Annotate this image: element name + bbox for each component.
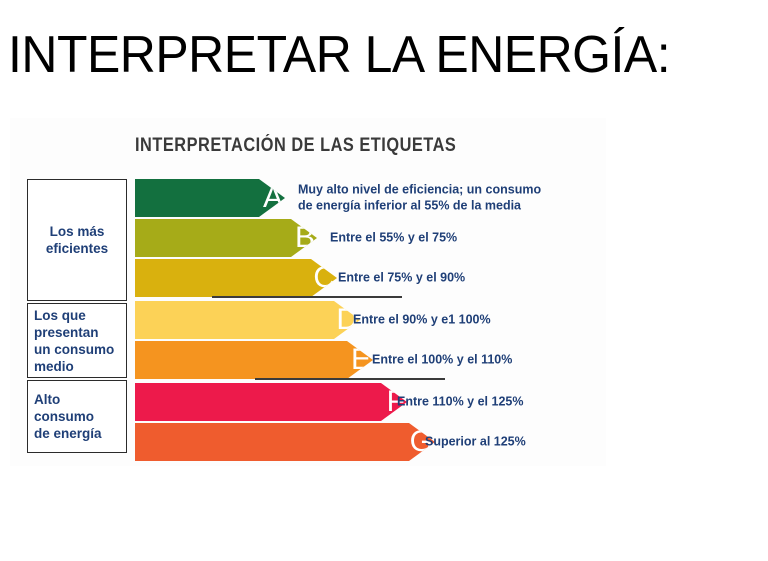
category-line: medio xyxy=(34,358,74,375)
figure-title: INTERPRETACIÓN DE LAS ETIQUETAS xyxy=(135,135,456,157)
rating-bar-a: A xyxy=(135,179,285,217)
category-line: de energía xyxy=(34,425,102,442)
rating-letter: A xyxy=(263,183,285,213)
description-line: Entre el 75% y el 90% xyxy=(338,270,465,286)
category-line: eficientes xyxy=(46,240,108,257)
rating-description-b: Entre el 55% y el 75% xyxy=(330,230,457,246)
category-box-high-consumption: Alto consumo de energía xyxy=(27,380,127,453)
rating-bar-b: B xyxy=(135,219,317,257)
rating-bar-g: G xyxy=(135,423,435,461)
rating-bar-c: C xyxy=(135,259,337,297)
description-line: Entre el 90% y e1 100% xyxy=(353,312,491,328)
category-line: Los más xyxy=(50,223,105,240)
rating-description-f: Entre 110% y el 125% xyxy=(397,394,523,410)
description-line: Entre el 55% y el 75% xyxy=(330,230,457,246)
category-line: Los que xyxy=(34,307,86,324)
rating-description-e: Entre el 100% y el 110% xyxy=(372,352,512,368)
group-separator-rule xyxy=(255,378,445,380)
description-line: Muy alto nivel de eficiencia; un consumo xyxy=(298,183,541,199)
description-line: Entre el 100% y el 110% xyxy=(372,352,512,368)
description-line: de energía inferior al 55% de la media xyxy=(298,198,541,214)
slide-root: { "slide": { "title": "INTERPRETAR LA EN… xyxy=(0,0,768,561)
category-line: un consumo xyxy=(34,341,114,358)
rating-description-d: Entre el 90% y e1 100% xyxy=(353,312,491,328)
energy-label-figure: INTERPRETACIÓN DE LAS ETIQUETAS Los más … xyxy=(10,118,606,466)
rating-letter: B xyxy=(295,223,317,253)
rating-bar-f: F xyxy=(135,383,407,421)
category-line: consumo xyxy=(34,408,94,425)
rating-letter: C xyxy=(313,263,337,293)
page-title: INTERPRETAR LA ENERGÍA: xyxy=(8,26,670,84)
rating-letter: E xyxy=(351,345,373,375)
rating-description-g: Superior al 125% xyxy=(425,434,526,450)
description-line: Superior al 125% xyxy=(425,434,526,450)
category-line: presentan xyxy=(34,324,99,341)
group-separator-rule xyxy=(212,296,402,298)
category-box-medium-consumption: Los que presentan un consumo medio xyxy=(27,303,127,378)
rating-description-a: Muy alto nivel de eficiencia; un consumo… xyxy=(298,183,541,214)
category-box-most-efficient: Los más eficientes xyxy=(27,179,127,301)
rating-description-c: Entre el 75% y el 90% xyxy=(338,270,465,286)
rating-bar-e: E xyxy=(135,341,373,379)
description-line: Entre 110% y el 125% xyxy=(397,394,523,410)
rating-bar-d: D xyxy=(135,301,360,339)
category-line: Alto xyxy=(34,391,60,408)
